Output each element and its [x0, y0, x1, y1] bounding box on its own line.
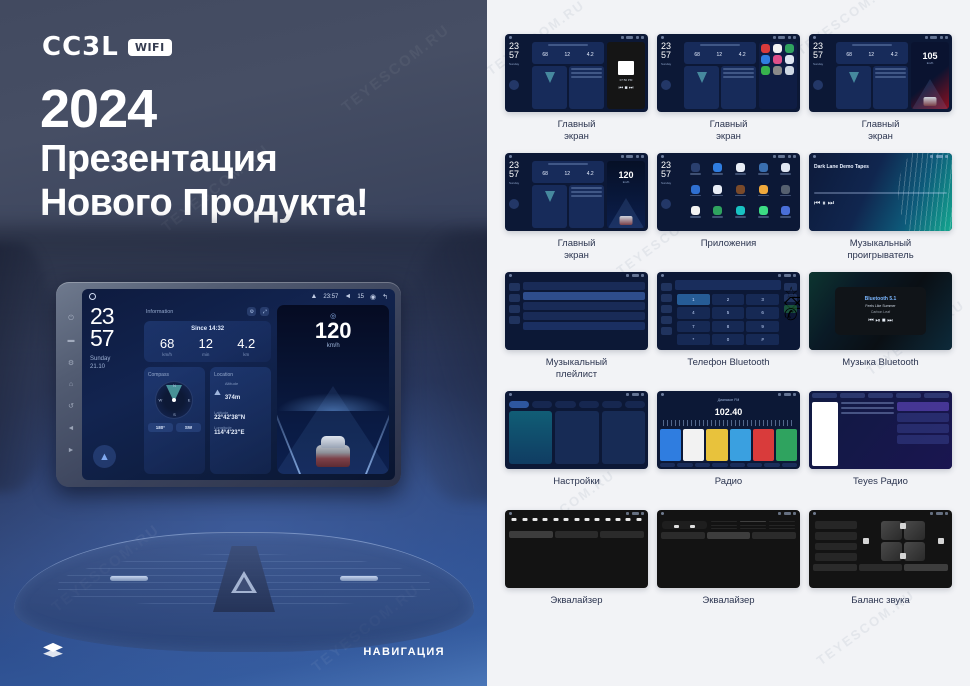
mountain-icon: ⛰ — [214, 388, 221, 398]
information-header: Information ⚙ ⤢ — [144, 307, 272, 316]
screenshot-thumbnail[interactable]: 2357Sunday 68124.2 07:50 PM ⏮ ■ ⏭ — [505, 34, 648, 112]
balance-presets — [815, 521, 857, 561]
navigation-arrow-icon — [509, 80, 519, 90]
vent-knob-left[interactable] — [110, 576, 148, 581]
screenshot-thumbnail[interactable]: Диапазон FM 102.40 — [657, 391, 800, 469]
teyes-tabs — [809, 391, 952, 400]
station-row — [897, 424, 949, 433]
compass-label-s: S — [173, 412, 176, 417]
settings-tab — [602, 401, 622, 408]
mic-icon[interactable]: ◉ — [370, 293, 376, 301]
speed-value: 105 — [911, 51, 949, 61]
track-title: Dark Lane Demo Tapes — [814, 164, 947, 170]
speaker-fl — [881, 521, 902, 540]
screenshot-thumbnail[interactable] — [505, 272, 648, 350]
arrow-right-button[interactable] — [938, 538, 944, 544]
screenshot-thumbnail[interactable]: 2357Sunday 68124.2 105 km/h — [809, 34, 952, 112]
radio-presets — [657, 429, 800, 461]
power-button[interactable]: ⏻ — [67, 315, 75, 323]
settings-tab — [625, 401, 645, 408]
information-title: Information — [146, 309, 174, 315]
compass-title: Compass — [148, 372, 201, 378]
preset-grid — [711, 521, 795, 529]
app-shortcuts-panel — [759, 42, 797, 109]
status-time: 23:57 — [323, 294, 338, 300]
trip-stats: 68 km/h 12 min 4.2 km — [148, 337, 268, 357]
playback-controls: ⏮ ⏯ ■ ⏭ — [868, 318, 892, 325]
gallery-item[interactable]: Музыкальный плейлист — [505, 272, 648, 391]
stat-value: 4.2 — [237, 337, 255, 350]
settings-button[interactable]: ⚙ — [67, 359, 75, 367]
dialpad: 1 2 3 4 5 6 7 8 9 * 0 # — [675, 292, 781, 347]
vent-knob-right[interactable] — [340, 576, 378, 581]
next-track-button[interactable]: ► — [67, 446, 75, 454]
screenshot-thumbnail[interactable]: 1 2 3 4 5 6 7 8 9 * 0 # — [657, 272, 800, 350]
speed-unit: km/h — [277, 343, 389, 349]
status-bar: ▲ 23:57 ◄ 15 ◉ ↰ — [82, 289, 395, 304]
arrow-down-button[interactable] — [900, 553, 906, 559]
music-player-screen: Dark Lane Demo Tapes ⏮ ⏸ ⏭ — [809, 153, 952, 231]
gallery-item[interactable]: Диапазон FM 102.40 Радио — [657, 391, 800, 510]
gallery-item[interactable]: 2357Sunday 68124.2 07:50 PM ⏮ ■ ⏭ Главны… — [505, 34, 648, 153]
compass-center-dot — [172, 398, 176, 402]
stat-unit: km — [237, 352, 255, 357]
thumbnail-caption: Эквалайзер — [550, 595, 602, 619]
settings-tabs — [509, 399, 645, 408]
station-row — [897, 413, 949, 422]
expand-icon[interactable]: ⤢ — [260, 307, 269, 316]
car-3d-model — [314, 433, 352, 467]
speed-value: 120 — [277, 320, 389, 342]
equalizer-sliders — [505, 517, 648, 531]
headline: 2024 Презентация Нового Продукта! — [40, 82, 368, 225]
arrow-left-button[interactable] — [863, 538, 869, 544]
car-windshield — [321, 436, 345, 448]
drive-panel: 120 km/h — [607, 161, 645, 228]
gallery-item[interactable]: Баланс звука — [809, 510, 952, 629]
playlist-rows — [523, 280, 645, 347]
wifi-icon: ▲ — [310, 293, 317, 300]
headline-line-2: Нового Продукта! — [40, 181, 368, 225]
location-altitude-row: ⛰ Altitude 374m — [214, 381, 267, 404]
gallery-item[interactable]: Teyes Радио — [809, 391, 952, 510]
headline-year: 2024 — [40, 82, 368, 137]
altitude-value: 374m — [225, 395, 240, 401]
trip-since: Since 14:32 — [148, 326, 268, 332]
hero-panel: TEYESCOM.RU TEYESCOM.RU TEYESCOM.RU TEYE… — [0, 0, 487, 686]
screenshot-gallery: TEYESCOM.RU TEYESCOM.RU TEYESCOM.RU TEYE… — [487, 0, 970, 686]
hero-footer: НАВИГАЦИЯ — [0, 620, 487, 686]
thumbnail-caption: Радио — [715, 476, 742, 500]
logo-wifi-badge: WIFI — [128, 39, 172, 56]
clock-hours: 23 — [90, 305, 138, 327]
drive-widget[interactable]: ◎ 120 km/h — [277, 305, 389, 474]
phone-actions: ☆⌫✆ — [784, 280, 797, 347]
gallery-item[interactable]: Эквалайзер — [505, 510, 648, 629]
screenshot-thumbnail[interactable]: 2357Sunday — [657, 153, 800, 231]
phone-sidebar — [661, 280, 672, 347]
stat-value: 12 — [199, 337, 213, 350]
compass-label-n: N — [173, 383, 176, 388]
trip-stat: 12 min — [199, 337, 213, 357]
equalizer-tabs — [809, 564, 952, 573]
thumbnail-caption: Музыкальный плейлист — [546, 357, 607, 381]
gallery-item[interactable]: 2357Sunday 68124.2 105 km/h Главный экра… — [809, 34, 952, 153]
settings-content — [509, 399, 645, 466]
screenshot-thumbnail[interactable] — [505, 510, 648, 588]
dash-pillar-left — [0, 242, 50, 492]
prev-track-button[interactable]: ◄ — [67, 424, 75, 432]
screenshot-thumbnail[interactable]: Dark Lane Demo Tapes ⏮ ⏸ ⏭ — [809, 153, 952, 231]
bluetooth-music-screen: Bluetooth 5.1 Feels Like Summer Carbon L… — [809, 272, 952, 350]
speaker-rl — [881, 542, 902, 561]
gallery-item[interactable]: 2357Sunday 68124.2 Главный экран — [657, 34, 800, 153]
music-panel: 07:50 PM ⏮ ■ ⏭ — [607, 42, 645, 109]
screenshot-thumbnail[interactable]: 2357Sunday 68124.2 120 km/h — [505, 153, 648, 231]
navigation-arrow-icon[interactable]: ▲ — [93, 445, 116, 468]
track-meta — [841, 402, 894, 466]
location-title: Location — [214, 372, 267, 378]
app-grid — [684, 161, 797, 228]
screen-body: 23 57 Sunday 21.10 ▲ Information ⚙ — [82, 304, 395, 480]
gallery-item[interactable]: 2357Sunday — [657, 153, 800, 272]
thumbnail-caption: Teyes Радио — [853, 476, 908, 500]
more-card — [602, 411, 645, 464]
navigation-label: НАВИГАЦИЯ — [363, 646, 445, 658]
trip-stat: 68 km/h — [160, 337, 174, 357]
clock-day: Sunday — [90, 355, 138, 363]
thumbnail-caption: Эквалайзер — [702, 595, 754, 619]
volume-icon: ◄ — [344, 293, 351, 300]
playlist-sidebar — [509, 280, 520, 347]
stat-unit: km/h — [160, 352, 174, 357]
thumbnail-caption: Главный экран — [558, 119, 596, 143]
teyes-radio-screen — [809, 391, 952, 469]
thumbnail-caption: Музыка Bluetooth — [842, 357, 918, 381]
station-row — [897, 435, 949, 444]
logo-model-text: CC3L — [42, 32, 119, 62]
compass-label-e: E — [188, 398, 191, 403]
wifi-card — [509, 411, 552, 464]
info-column: Information ⚙ ⤢ Since 14:32 — [144, 305, 272, 474]
gallery-item[interactable]: Эквалайзер — [657, 510, 800, 629]
usb-card — [555, 411, 598, 464]
station-row — [897, 402, 949, 411]
back-button[interactable]: ↺ — [67, 402, 75, 410]
thumbnail-caption: Баланс звука — [851, 595, 910, 619]
compass-direction: SW — [176, 423, 201, 432]
track-artist: Carbon Leaf — [871, 310, 890, 314]
gallery-item[interactable]: 2357Sunday 68124.2 120 km/h Главный экра… — [505, 153, 648, 272]
volume-up-button[interactable]: ▬ — [67, 337, 75, 345]
settings-tab — [532, 401, 552, 408]
car-dashboard: ⏻ ▬ ⚙ ⌂ ↺ ◄ ► ▲ 23:57 ◄ 15 — [0, 232, 487, 686]
clock-date: 21.10 — [90, 363, 138, 371]
presentation-slide: TEYESCOM.RU TEYESCOM.RU TEYESCOM.RU TEYE… — [0, 0, 970, 686]
screenshot-thumbnail[interactable]: Bluetooth 5.1 Feels Like Summer Carbon L… — [809, 272, 952, 350]
location-longitude-row: Longitude 114°4'23"E — [214, 425, 267, 436]
longitude-value: 114°4'23"E — [214, 430, 267, 436]
album-art — [812, 402, 838, 466]
gallery-item[interactable]: Настройки — [505, 391, 648, 510]
compass-widget[interactable]: Compass N E S W — [144, 367, 205, 474]
radio-toolbar — [657, 461, 800, 469]
screenshot-thumbnail[interactable] — [809, 510, 952, 588]
stat-value: 68 — [160, 337, 174, 350]
trip-stat: 4.2 km — [237, 337, 255, 357]
headline-line-1: Презентация — [40, 137, 368, 181]
clock-minutes: 57 — [90, 327, 138, 349]
compass-heading: 180° — [148, 423, 173, 432]
trip-info-card[interactable]: Since 14:32 68 km/h 12 min — [144, 321, 272, 362]
radio-frequency: 102.40 — [657, 402, 800, 417]
car-body — [316, 445, 350, 467]
gallery-item[interactable]: Dark Lane Demo Tapes ⏮ ⏸ ⏭ Музыкальный п… — [809, 153, 952, 272]
compass-label-w: W — [158, 398, 162, 403]
equalizer-tabs — [657, 532, 800, 541]
latitude-value: 22°42'38"N — [214, 415, 267, 421]
equalizer-presets — [657, 517, 800, 532]
balance-content — [809, 517, 952, 564]
home-button[interactable]: ⌂ — [67, 381, 75, 389]
thumbnail-caption: Телефон Bluetooth — [687, 357, 769, 381]
bluetooth-version: Bluetooth 5.1 — [865, 296, 897, 302]
screenshot-thumbnail[interactable] — [505, 391, 648, 469]
hazard-triangle-inner — [236, 577, 252, 591]
clock-widget: 2357Sunday — [509, 42, 529, 109]
clock-widget[interactable]: 23 57 Sunday 21.10 ▲ — [90, 305, 138, 474]
thumbnail-caption: Музыкальный проигрыватель — [847, 238, 913, 262]
back-icon[interactable]: ↰ — [382, 293, 388, 301]
speed-value: 120 — [607, 170, 645, 180]
drive-panel: 105 km/h — [911, 42, 949, 109]
balance-pad — [861, 521, 946, 561]
altitude-label: Altitude — [225, 381, 240, 386]
location-widget[interactable]: Location ⛰ Altitude 374m — [210, 367, 271, 474]
settings-tab — [579, 401, 599, 408]
layers-icon — [42, 642, 64, 660]
compass-dial: N E S W — [155, 381, 193, 419]
gain-sliders — [662, 521, 707, 529]
head-unit: ⏻ ▬ ⚙ ⌂ ↺ ◄ ► ▲ 23:57 ◄ 15 — [56, 282, 401, 487]
dash-pillar-right — [411, 232, 487, 502]
compass-readout: 180° SW — [148, 423, 201, 432]
gallery-item[interactable]: 1 2 3 4 5 6 7 8 9 * 0 # — [657, 272, 800, 391]
head-unit-bezel-buttons[interactable]: ⏻ ▬ ⚙ ⌂ ↺ ◄ ► — [60, 289, 82, 480]
screenshot-thumbnail[interactable] — [809, 391, 952, 469]
speaker-rr — [904, 542, 925, 561]
track-title: Feels Like Summer — [865, 304, 895, 308]
settings-tab — [509, 401, 529, 408]
equalizer-tabs — [505, 531, 648, 540]
thumbnail-caption: Главный экран — [710, 119, 748, 143]
head-unit-screen[interactable]: ▲ 23:57 ◄ 15 ◉ ↰ 23 57 Sunday — [82, 289, 395, 480]
arrow-up-button[interactable] — [900, 523, 906, 529]
radio-content: Диапазон FM 102.40 — [657, 398, 800, 469]
home-icon — [509, 36, 512, 39]
speaker-fr — [904, 521, 925, 540]
gallery-item[interactable]: Bluetooth 5.1 Feels Like Summer Carbon L… — [809, 272, 952, 391]
screenshot-thumbnail[interactable]: 2357Sunday 68124.2 — [657, 34, 800, 112]
thumbnail-caption: Настройки — [553, 476, 600, 500]
screenshot-thumbnail[interactable] — [657, 510, 800, 588]
stat-unit: min — [199, 352, 213, 357]
thumbnail-caption: Приложения — [701, 238, 757, 262]
gear-icon[interactable]: ⚙ — [247, 307, 256, 316]
thumbnail-caption: Главный экран — [862, 119, 900, 143]
station-list — [897, 402, 949, 466]
thumbnail-caption: Главный экран — [558, 238, 596, 262]
product-logo: CC3L WIFI — [42, 32, 172, 62]
location-latitude-row: Latitude 22°42'38"N — [214, 410, 267, 421]
status-volume: 15 — [357, 294, 364, 300]
home-icon[interactable] — [89, 293, 96, 300]
gallery-grid: 2357Sunday 68124.2 07:50 PM ⏮ ■ ⏭ Главны… — [505, 34, 952, 629]
settings-tab — [555, 401, 575, 408]
widgets-row: Compass N E S W — [144, 367, 272, 474]
frequency-scale — [663, 420, 794, 426]
